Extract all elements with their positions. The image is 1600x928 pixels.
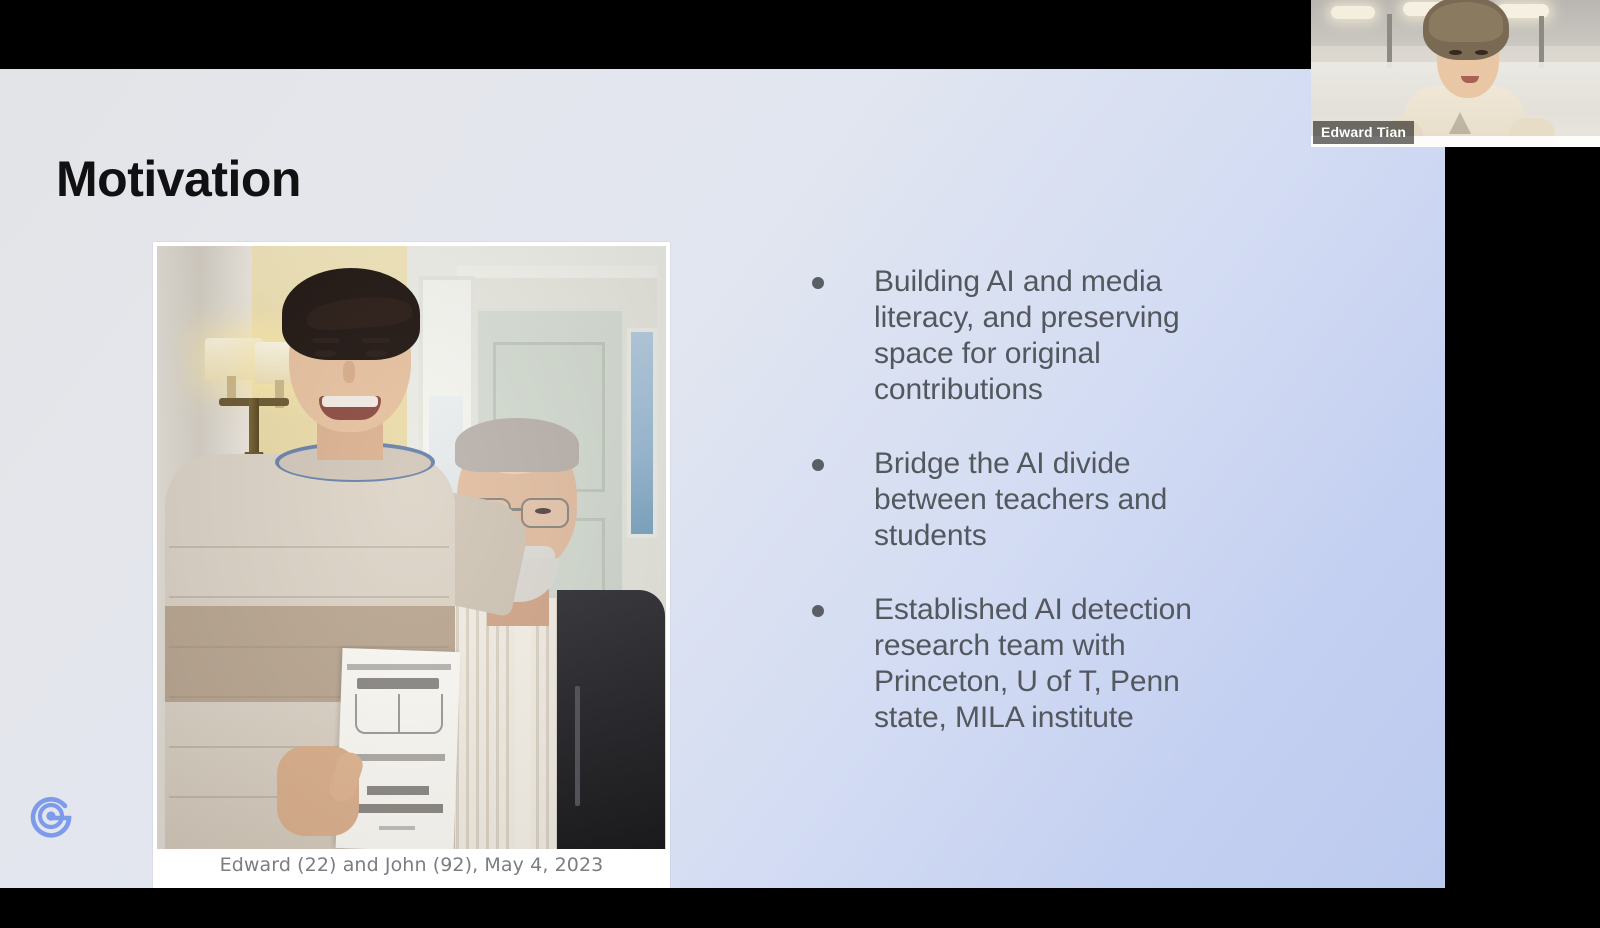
bullet-dot-icon — [812, 605, 824, 617]
webcam-person-eye — [1449, 50, 1462, 55]
screen-share-view: Motivation — [0, 0, 1600, 928]
bullet-text: Established AI detection research team w… — [874, 592, 1232, 736]
webcam-person-hair-highlight — [1429, 2, 1503, 42]
photo-caption: Edward (22) and John (92), May 4, 2023 — [153, 854, 670, 876]
webcam-video-tile[interactable]: Edward Tian — [1311, 0, 1600, 147]
webcam-ceiling-light — [1331, 6, 1375, 19]
photo-vignette — [157, 246, 666, 849]
webcam-person-eye — [1475, 50, 1488, 55]
bullet-text: Building AI and media literacy, and pres… — [874, 264, 1232, 408]
bullet-dot-icon — [812, 459, 824, 471]
list-item: Building AI and media literacy, and pres… — [812, 264, 1232, 408]
webcam-beam — [1387, 14, 1392, 68]
list-item: Established AI detection research team w… — [812, 592, 1232, 736]
gptzero-logo-icon — [27, 792, 75, 840]
page-title: Motivation — [56, 154, 301, 204]
list-item: Bridge the AI divide between teachers an… — [812, 446, 1232, 554]
webcam-beam — [1539, 16, 1544, 68]
photo-card: Edward (22) and John (92), May 4, 2023 — [153, 242, 670, 888]
bullet-dot-icon — [812, 277, 824, 289]
bullet-list: Building AI and media literacy, and pres… — [812, 264, 1232, 774]
presentation-slide: Motivation — [0, 69, 1445, 888]
photo-image — [157, 246, 666, 849]
webcam-participant-name-label: Edward Tian — [1313, 121, 1414, 144]
bullet-text: Bridge the AI divide between teachers an… — [874, 446, 1232, 554]
